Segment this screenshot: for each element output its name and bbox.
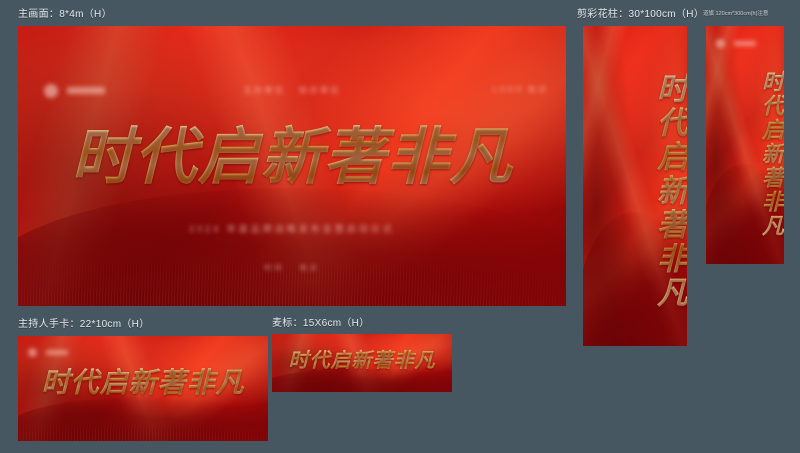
main-subtitle-primary: 2024 年度品牌战略发布会暨启动仪式 — [189, 222, 395, 235]
logo-wordmark — [46, 350, 68, 355]
brand-logo-icon — [28, 344, 68, 362]
logo-mark-icon — [28, 348, 37, 357]
mic-slogan-title: 时代启新著非凡 — [272, 347, 452, 373]
caption-main-backdrop: 主画面：8*4m（H） — [18, 9, 112, 21]
mockup-board: 主画面：8*4m（H） 主办单位 · 协办单位 LOGO 标识 时代启新著非凡 … — [0, 0, 800, 453]
ribbon-column-panel[interactable]: 时代启新著非凡 — [583, 26, 687, 346]
main-top-center-text: 主办单位 · 协办单位 — [243, 84, 341, 96]
logo-wordmark — [67, 87, 105, 94]
flag-slogan-title: 时代启新著非凡 — [706, 56, 784, 252]
ripple-lines-decoration — [18, 405, 268, 441]
host-card-panel[interactable]: 时代启新著非凡 — [18, 336, 268, 441]
street-flag-panel[interactable]: 时代启新著非凡 — [706, 26, 784, 264]
caption-ribbon-column: 剪彩花柱：30*100cm（H） — [577, 9, 704, 21]
main-backdrop-panel[interactable]: 主办单位 · 协办单位 LOGO 标识 时代启新著非凡 2024 年度品牌战略发… — [18, 26, 566, 306]
logo-mark-icon — [716, 39, 725, 48]
main-top-right-text: LOGO 标识 — [493, 84, 548, 95]
main-slogan-title: 时代启新著非凡 — [18, 122, 566, 192]
caption-street-flag: 道旗 120cm*300cm(h)注意 — [703, 11, 768, 18]
mic-label-panel[interactable]: 时代启新著非凡 — [272, 334, 452, 392]
brand-logo-icon — [44, 82, 105, 100]
logo-wordmark — [734, 41, 756, 46]
caption-host-card: 主持人手卡：22*10cm（H） — [18, 319, 150, 331]
main-subtitle-secondary: 时间 · 地点 — [264, 263, 319, 273]
brand-logo-icon — [716, 35, 756, 53]
column-slogan-title: 时代启新著非凡 — [583, 54, 687, 328]
host-slogan-title: 时代启新著非凡 — [18, 366, 268, 400]
caption-mic-label: 麦标：15X6cm（H） — [272, 318, 370, 330]
logo-mark-icon — [44, 84, 58, 98]
